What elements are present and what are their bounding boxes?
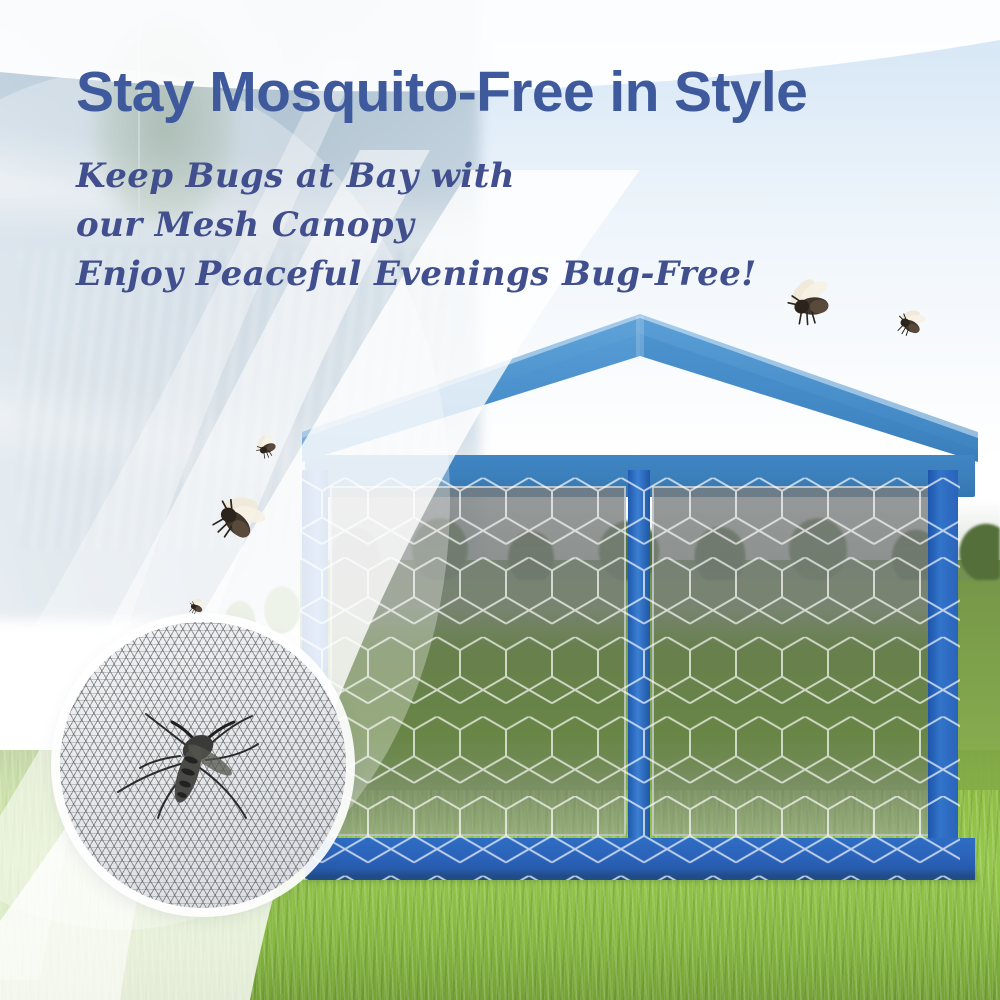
subtitle-line-2: our Mesh Canopy — [76, 205, 414, 245]
subtitle-line-3: Enjoy Peaceful Evenings Bug-Free! — [76, 254, 757, 294]
corner-post-right — [928, 470, 958, 870]
mesh-sidewall-right — [652, 486, 930, 836]
page-title: Stay Mosquito-Free in Style — [76, 64, 976, 121]
mesh-closeup-inset — [60, 622, 346, 908]
mesh-sidewall-left — [330, 486, 626, 836]
subtitle-line-1: Keep Bugs at Bay with — [76, 156, 515, 196]
mosquito-illustration — [60, 622, 346, 908]
product-banner: Stay Mosquito-Free in Style Keep Bugs at… — [0, 0, 1000, 1000]
ground-shadow — [305, 874, 977, 884]
center-post — [628, 470, 650, 880]
